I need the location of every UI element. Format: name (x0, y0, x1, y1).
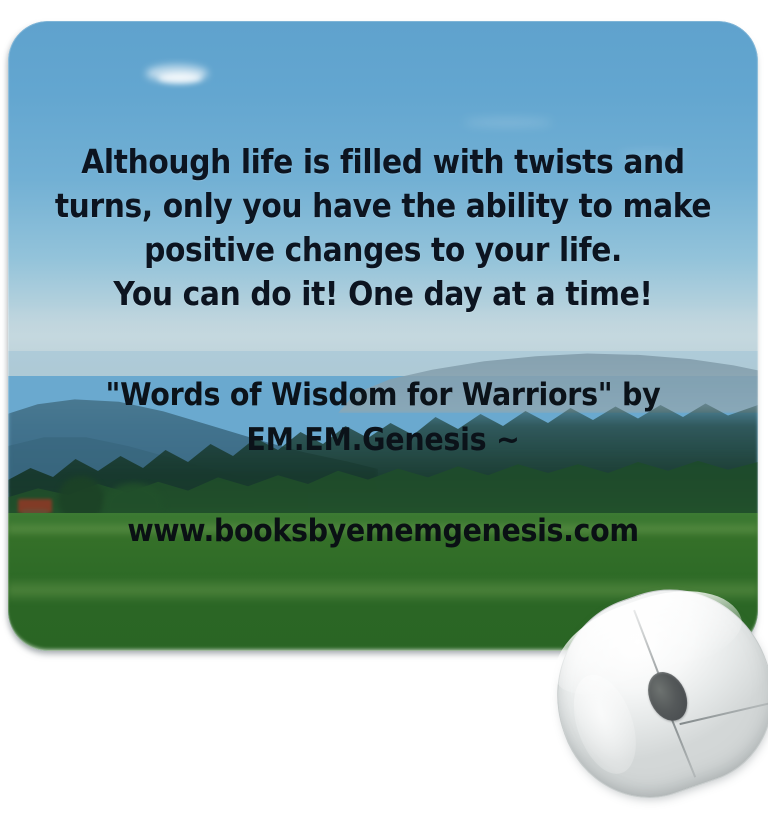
website-url: www.booksbyememgenesis.com (38, 513, 728, 549)
mousepad-artwork: Although life is filled with twists and … (8, 21, 758, 651)
quote-line-1: Although life is filled with twists and (46, 140, 721, 184)
credit-line-1: "Words of Wisdom for Warriors" by (38, 373, 728, 418)
book-credit-block: "Words of Wisdom for Warriors" by EM.EM.… (38, 373, 728, 463)
mouse-shell-seam (679, 700, 768, 725)
product-photo-scene: Although life is filled with twists and … (0, 0, 768, 768)
cloud-icon (158, 73, 202, 83)
quote-line-3: positive changes to your life. (46, 228, 721, 272)
quote-line-2: turns, only you have the ability to make (46, 184, 721, 228)
quote-line-4: You can do it! One day at a time! (46, 272, 721, 316)
quote-text-block: Although life is filled with twists and … (46, 140, 721, 316)
cloud-icon (463, 118, 553, 127)
credit-line-2: EM.EM.Genesis ~ (38, 418, 728, 463)
mousepad[interactable]: Although life is filled with twists and … (8, 21, 758, 651)
